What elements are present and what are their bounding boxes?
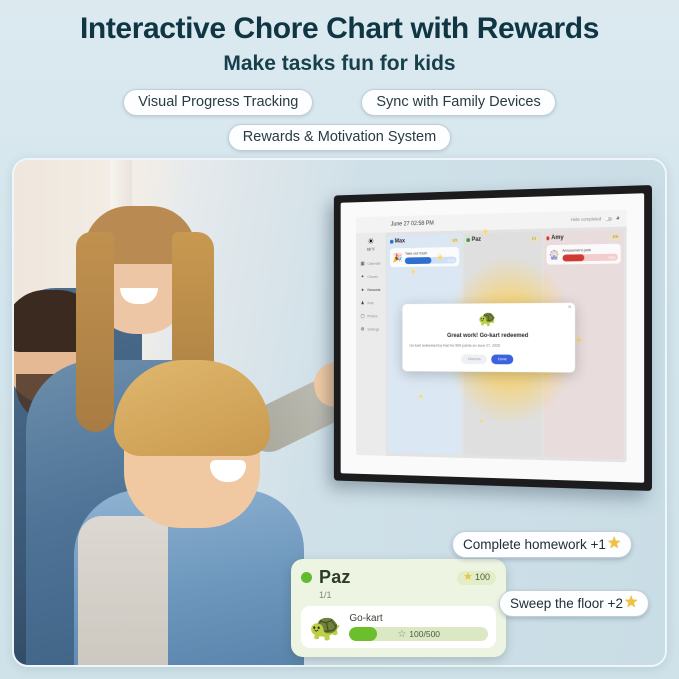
- sparkle-icon: ✦: [410, 269, 416, 277]
- ferris-icon: 🎡: [549, 250, 560, 259]
- wall-mounted-display-frame: Hide completed ◕ ☀ 86°F ▦ Calendar: [334, 185, 652, 491]
- trash-icon: 🎉: [393, 253, 403, 262]
- close-icon[interactable]: ✕: [568, 305, 572, 311]
- temperature-value: 86°F: [359, 247, 383, 252]
- task-progress-bar: Claim: [562, 254, 618, 262]
- status-dot: [390, 240, 393, 243]
- status-dot: [546, 237, 549, 240]
- column-header: Paz 1/1: [467, 236, 539, 243]
- reward-progress-bar: ☆ 100/500: [349, 627, 488, 641]
- mother-hair-left: [76, 232, 114, 432]
- kid-progress-badge: 100: [610, 234, 621, 239]
- app-sidebar: ☀ 86°F ▦ Calendar ✦ Chores ● Rewards: [356, 232, 385, 455]
- sidebar-item-label: Rewards: [367, 288, 380, 292]
- sparkle-icon: ✦: [482, 228, 489, 237]
- task-card[interactable]: 🎉 Take out trash Done: [390, 247, 460, 267]
- modal-body: Go-kart redeemed by Karl for 500 points …: [409, 343, 567, 349]
- sidebar-item-kids[interactable]: ♟ Kids: [359, 297, 383, 308]
- callout-label: Sweep the floor +2: [510, 596, 623, 611]
- sparkle-icon: ✦: [575, 336, 582, 345]
- go-kart-icon: 🐢: [409, 312, 567, 328]
- task-card[interactable]: 🎡 Amusement park Claim: [546, 244, 621, 265]
- boy-sleeve: [78, 516, 168, 667]
- sparkle-icon: ✦: [360, 274, 366, 280]
- task-progress-fill: [405, 257, 432, 264]
- calendar-icon: ▦: [360, 261, 366, 267]
- reward-progress-label: 100/500: [409, 629, 440, 639]
- reward-name: Go-kart: [349, 613, 488, 624]
- task-action-label[interactable]: Done: [448, 258, 455, 262]
- sidebar-item-calendar[interactable]: ▦ Calendar: [359, 258, 383, 270]
- feature-pill-sync-devices: Sync with Family Devices: [361, 89, 555, 116]
- sidebar-item-chores[interactable]: ✦ Chores: [359, 271, 383, 283]
- star-icon: ★: [624, 595, 638, 611]
- paz-task-fraction: 1/1: [319, 590, 496, 600]
- medal-icon: ●: [360, 287, 366, 293]
- sidebar-item-label: Photos: [367, 314, 377, 318]
- feature-pill-row-1: Visual Progress Tracking Sync with Famil…: [0, 89, 679, 116]
- kid-progress-badge: 1/2: [450, 238, 459, 243]
- hide-completed-label: Hide completed: [571, 216, 601, 222]
- chore-chart-screen[interactable]: Hide completed ◕ ☀ 86°F ▦ Calendar: [356, 210, 627, 463]
- reward-progress-label-wrap: ☆ 100/500: [349, 627, 488, 641]
- paz-points-value: 100: [475, 572, 490, 582]
- status-dot: [301, 572, 312, 583]
- star-icon: ★: [463, 572, 473, 583]
- task-progress-bar: Done: [405, 257, 457, 265]
- kid-progress-badge: 1/1: [529, 236, 538, 241]
- kid-name: Amy: [551, 235, 563, 241]
- hide-completed-toggle[interactable]: [605, 217, 612, 221]
- sun-icon: ☀: [359, 237, 383, 246]
- modal-actions: Dismiss Done: [409, 354, 567, 364]
- callout-sweep-floor: Sweep the floor +2 ★: [499, 590, 649, 617]
- dismiss-button[interactable]: Dismiss: [462, 354, 487, 364]
- sidebar-item-photos[interactable]: ▢ Photos: [359, 311, 383, 322]
- sidebar-item-label: Calendar: [367, 262, 380, 266]
- done-button[interactable]: Done: [492, 354, 514, 364]
- column-header: Amy 100: [546, 234, 621, 242]
- wifi-icon: ◕: [616, 215, 620, 222]
- page-subtitle: Make tasks fun for kids: [0, 52, 679, 75]
- modal-title: Great work! Go-kart redeemed: [409, 332, 567, 339]
- photo-icon: ▢: [360, 314, 366, 320]
- task-action-label[interactable]: Claim: [608, 255, 616, 259]
- star-outline-icon: ☆: [397, 629, 406, 640]
- callout-complete-homework: Complete homework +1 ★: [452, 531, 632, 558]
- sidebar-item-label: Settings: [367, 328, 379, 332]
- task-title: Take out trash: [405, 250, 457, 256]
- paz-reward-card[interactable]: Paz ★ 100 1/1 🐢 Go-kart ☆ 100/500: [291, 559, 506, 657]
- status-dot: [467, 238, 470, 241]
- weather-widget: ☀ 86°F: [359, 237, 383, 252]
- reward-redeemed-modal[interactable]: ✕ 🐢 Great work! Go-kart redeemed Go-kart…: [402, 303, 575, 372]
- people-icon: ♟: [360, 300, 366, 306]
- task-progress-fill: [562, 254, 584, 261]
- page-header: Interactive Chore Chart with Rewards Mak…: [0, 0, 679, 151]
- sidebar-item-rewards[interactable]: ● Rewards: [359, 284, 383, 296]
- column-header: Max 1/2: [390, 237, 460, 244]
- star-icon: ★: [607, 536, 621, 552]
- sparkle-icon: ✦: [437, 254, 445, 264]
- feature-pill-visual-progress: Visual Progress Tracking: [123, 89, 313, 116]
- sparkle-icon: ✦: [479, 419, 484, 425]
- sidebar-item-settings[interactable]: ⚙ Settings: [359, 324, 383, 335]
- paz-name: Paz: [319, 567, 351, 588]
- feature-pill-row-2: Rewards & Motivation System: [0, 124, 679, 151]
- sparkle-icon: ✦: [418, 394, 423, 401]
- task-title: Amusement park: [562, 247, 618, 253]
- sidebar-item-label: Kids: [367, 301, 373, 305]
- kid-name: Paz: [472, 237, 481, 243]
- datetime-label: June 27 02:58 PM: [391, 221, 434, 228]
- paz-card-header: Paz ★ 100: [301, 567, 496, 588]
- gear-icon: ⚙: [360, 327, 366, 333]
- feature-pill-rewards-system: Rewards & Motivation System: [228, 124, 451, 151]
- paz-reward-row[interactable]: 🐢 Go-kart ☆ 100/500: [301, 606, 496, 648]
- kid-name: Max: [395, 239, 405, 245]
- page-title: Interactive Chore Chart with Rewards: [0, 12, 679, 45]
- go-kart-icon: 🐢: [309, 614, 341, 640]
- sidebar-item-label: Chores: [367, 275, 378, 279]
- paz-points-badge: ★ 100: [457, 571, 496, 585]
- callout-label: Complete homework +1: [463, 537, 606, 552]
